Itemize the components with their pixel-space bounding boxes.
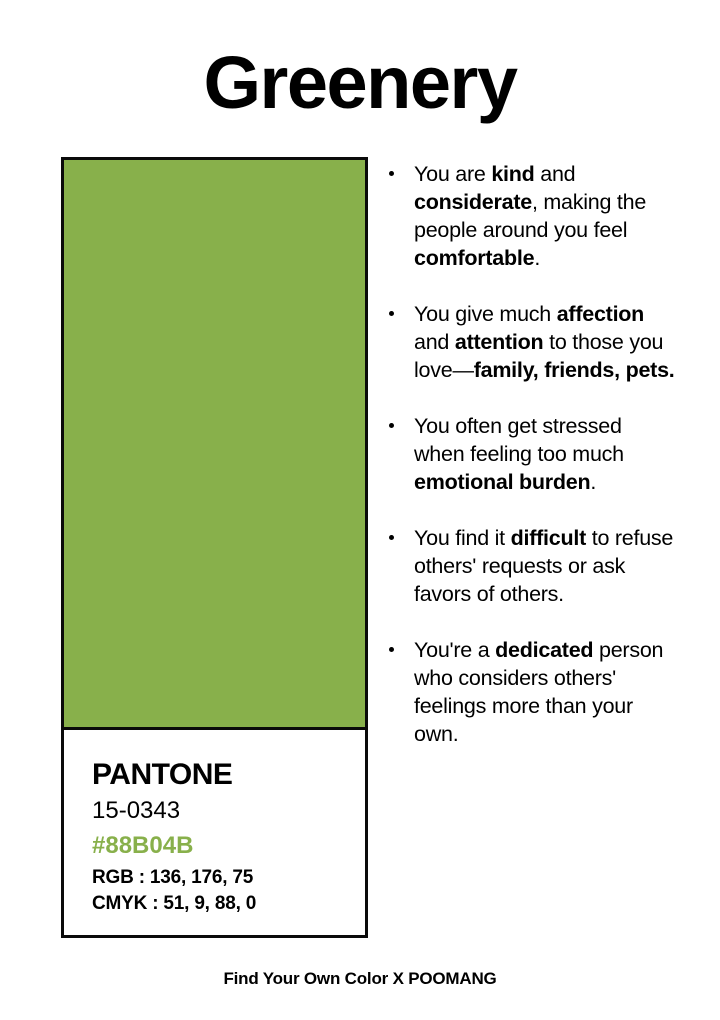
list-item-text: You're a dedicated person who considers … xyxy=(414,638,663,746)
pantone-code: 15-0343 xyxy=(92,797,365,826)
list-item: You're a dedicated person who considers … xyxy=(386,636,676,748)
list-item: You find it difficult to refuse others' … xyxy=(386,524,676,608)
hex-value: #88B04B xyxy=(92,832,365,861)
list-item: You often get stressed when feeling too … xyxy=(386,412,676,496)
list-item-text: You find it difficult to refuse others' … xyxy=(414,526,673,606)
rgb-value: RGB : 136, 176, 75 xyxy=(92,865,365,891)
color-swatch-block xyxy=(64,160,365,730)
page-title: Greenery xyxy=(0,44,720,122)
pantone-brand-label: PANTONE xyxy=(92,758,365,791)
bullet-dot-icon xyxy=(389,311,394,316)
list-item-text: You are kind and considerate, making the… xyxy=(414,162,646,270)
footer-credit: Find Your Own Color X POOMANG xyxy=(0,969,720,989)
swatch-info-panel: PANTONE 15-0343 #88B04B RGB : 136, 176, … xyxy=(64,730,365,935)
bullet-dot-icon xyxy=(389,535,394,540)
cmyk-value: CMYK : 51, 9, 88, 0 xyxy=(92,891,365,917)
color-swatch-card: PANTONE 15-0343 #88B04B RGB : 136, 176, … xyxy=(61,157,368,938)
list-item-text: You give much affection and attention to… xyxy=(414,302,675,382)
list-item: You are kind and considerate, making the… xyxy=(386,160,676,272)
poster-page: Greenery PANTONE 15-0343 #88B04B RGB : 1… xyxy=(0,0,720,1020)
list-item: You give much affection and attention to… xyxy=(386,300,676,384)
bullet-dot-icon xyxy=(389,171,394,176)
bullet-dot-icon xyxy=(389,423,394,428)
trait-list: You are kind and considerate, making the… xyxy=(386,160,676,748)
list-item-text: You often get stressed when feeling too … xyxy=(414,414,624,494)
bullet-dot-icon xyxy=(389,647,394,652)
